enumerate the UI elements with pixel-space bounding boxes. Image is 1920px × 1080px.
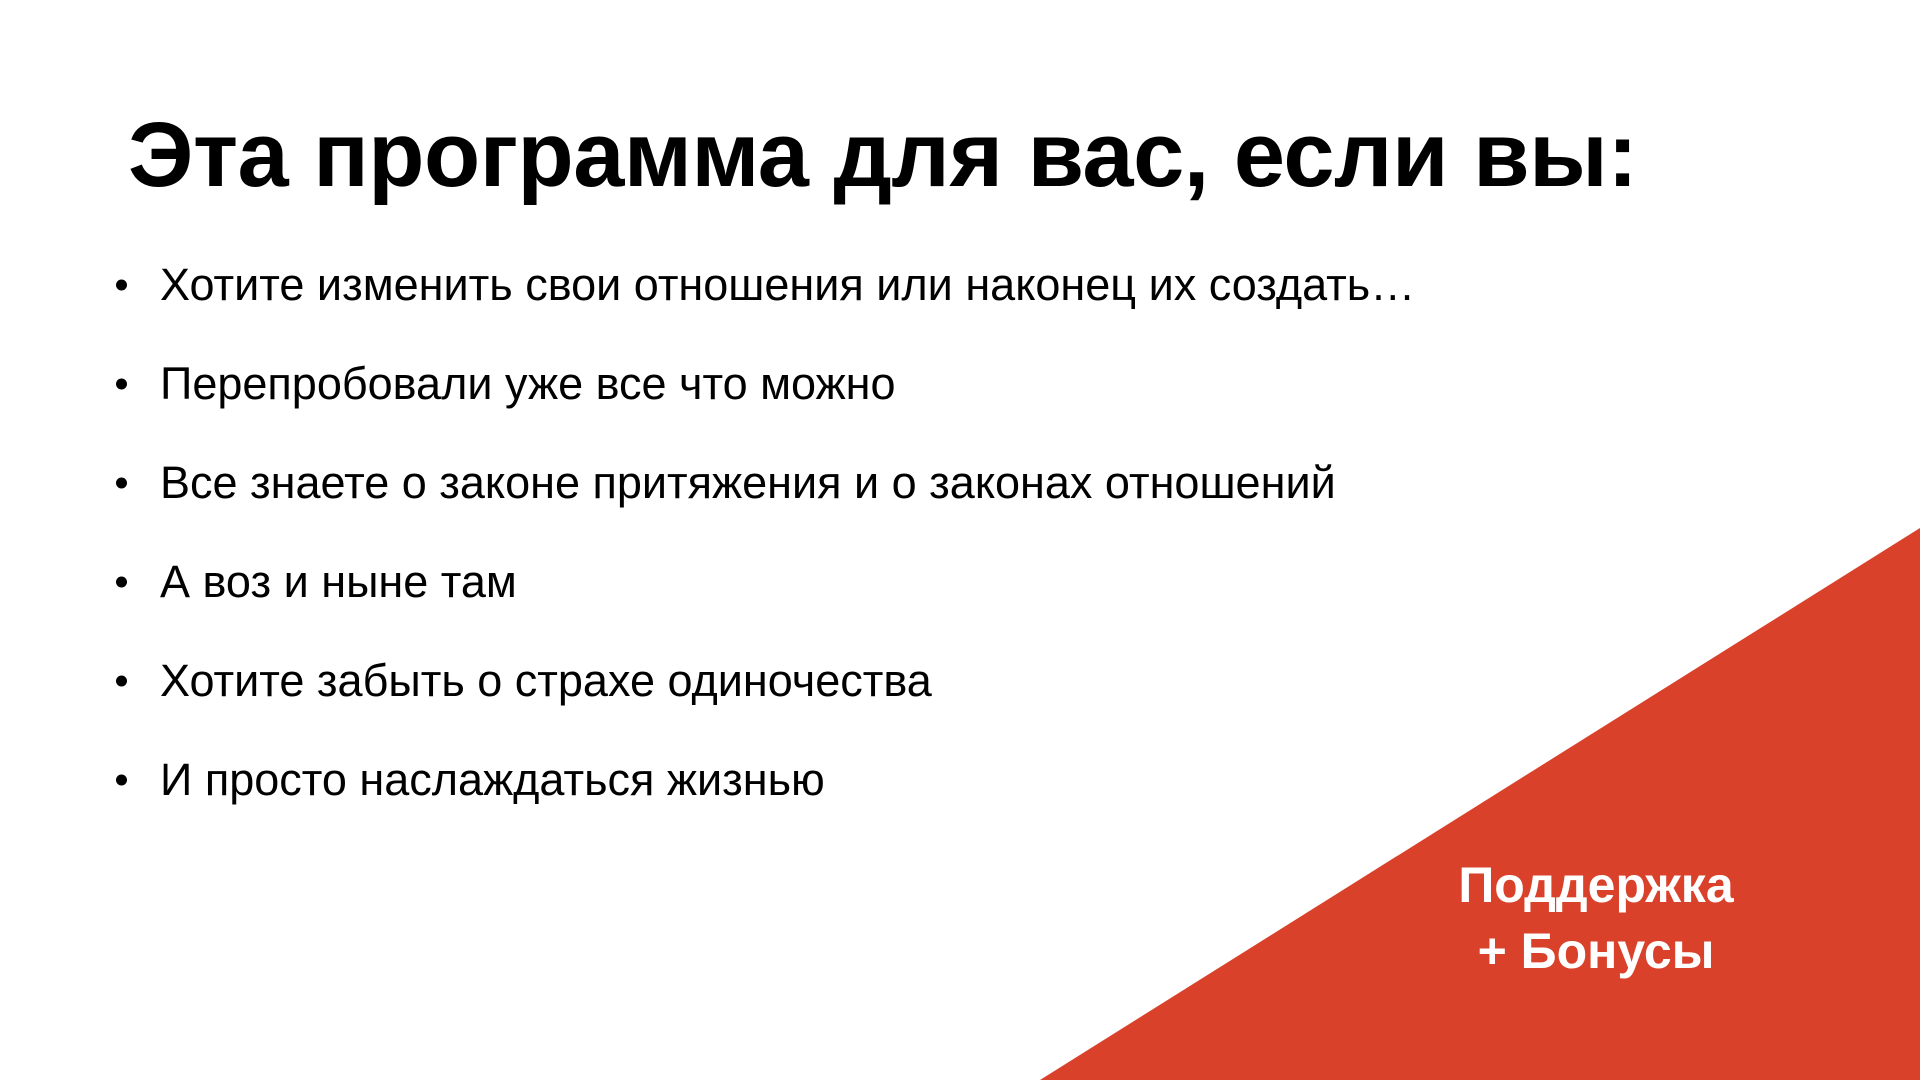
list-item-label: Перепробовали уже все что можно [160, 358, 896, 409]
bullet-dot-icon [116, 675, 127, 686]
list-item: Хотите забыть о страхе одиночества [112, 654, 1672, 707]
bullet-dot-icon [116, 775, 127, 786]
bullet-dot-icon [116, 378, 127, 389]
list-item: Все знаете о законе притяжения и о закон… [112, 456, 1672, 509]
bullet-dot-icon [116, 576, 127, 587]
corner-badge-line-2: + Бонусы [1316, 918, 1876, 984]
list-item: Хотите изменить свои отношения или након… [112, 258, 1672, 311]
page-title: Эта программа для вас, если вы: [128, 106, 1828, 205]
list-item: Перепробовали уже все что можно [112, 357, 1672, 410]
list-item-label: И просто наслаждаться жизнью [160, 754, 825, 805]
list-item-label: Хотите изменить свои отношения или након… [160, 259, 1415, 310]
bullet-dot-icon [116, 279, 127, 290]
corner-badge-line-1: Поддержка [1316, 852, 1876, 918]
corner-badge: Поддержка + Бонусы [1316, 852, 1876, 984]
list-item: И просто наслаждаться жизнью [112, 753, 1672, 806]
slide-canvas: Эта программа для вас, если вы: Хотите и… [0, 0, 1920, 1080]
list-item-label: Хотите забыть о страхе одиночества [160, 655, 932, 706]
bullet-dot-icon [116, 477, 127, 488]
list-item-label: А воз и ныне там [160, 556, 517, 607]
bullet-list: Хотите изменить свои отношения или након… [112, 258, 1672, 807]
list-item-label: Все знаете о законе притяжения и о закон… [160, 457, 1336, 508]
list-item: А воз и ныне там [112, 555, 1672, 608]
